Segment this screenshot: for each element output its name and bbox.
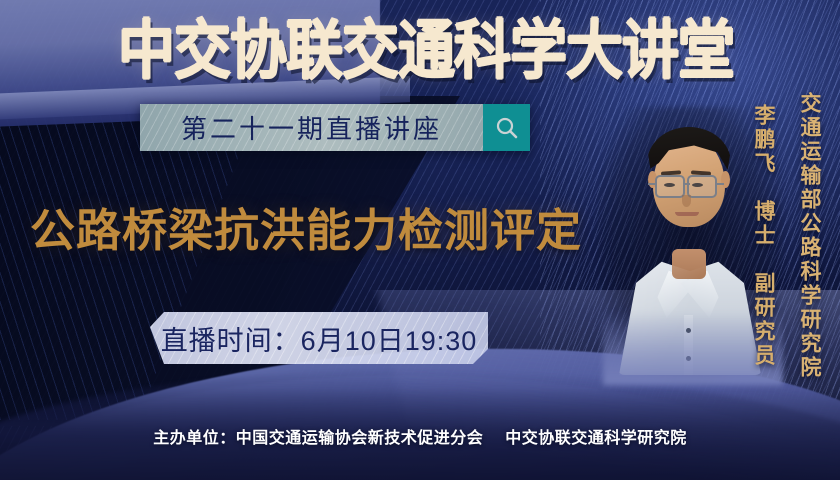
portrait-nose [682, 195, 691, 207]
portrait-mouth [675, 212, 699, 216]
episode-bar-body: 第二十一期直播讲座 [140, 104, 483, 151]
glasses-temple-right [716, 183, 724, 185]
portrait-ear-right [721, 171, 730, 188]
footer-co-organizer: 中交协联交通科学研究院 [505, 424, 687, 448]
footer-organizers: 主办单位：中国交通运输协会新技术促进分会 中交协联交通科学研究院 [0, 423, 840, 449]
speaker-organization: 交通运输部公路科学研究院 [794, 92, 824, 380]
glasses-bridge [684, 183, 690, 185]
broadcast-time-banner: 直播时间：6月10日19:30 [150, 312, 488, 364]
live-lecture-poster: 中交协联交通科学大讲堂 第二十一期直播讲座 公路桥梁抗洪能力检测评定 直播时间：… [0, 0, 840, 480]
search-icon [494, 115, 520, 141]
footer-organizer: 主办单位：中国交通运输协会新技术促进分会 [153, 424, 483, 448]
glasses-lens-left [655, 175, 685, 198]
speaker-portrait [613, 113, 765, 375]
episode-label: 第二十一期直播讲座 [181, 109, 442, 146]
search-button[interactable] [483, 104, 530, 151]
page-title: 中交协联交通科学大讲堂 [138, 13, 714, 89]
speaker-name-title: 李鹏飞 博士 副研究员 [748, 104, 778, 368]
broadcast-time-text: 直播时间：6月10日19:30 [161, 319, 478, 358]
lecture-topic-title: 公路桥梁抗洪能力检测评定 [30, 198, 620, 262]
glasses-lens-right [687, 175, 717, 198]
episode-bar: 第二十一期直播讲座 [140, 104, 530, 151]
